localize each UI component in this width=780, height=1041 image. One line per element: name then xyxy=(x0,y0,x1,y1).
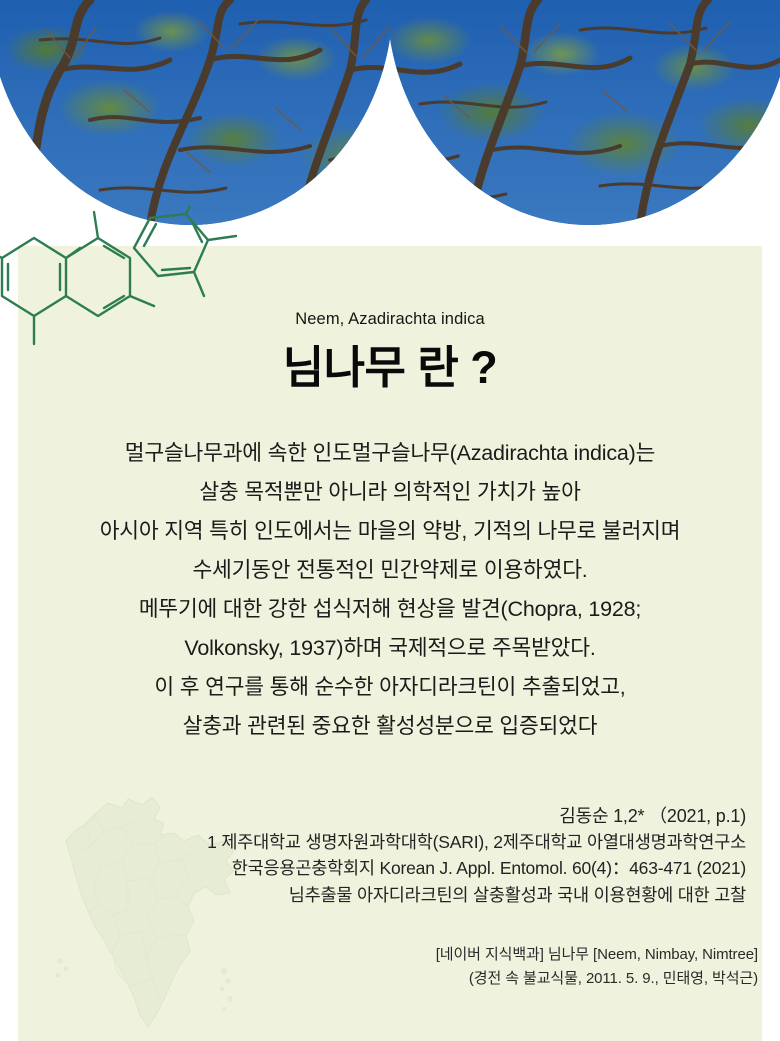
citation-block: 김동순 1,2* （2021, p.1) 1 제주대학교 생명자원과학대학(SA… xyxy=(18,803,746,908)
body-line: 수세기동안 전통적인 민간약제로 이용하였다. xyxy=(18,551,762,590)
latin-name-subtitle: Neem, Azadirachta indica xyxy=(0,310,780,329)
citation-author-line: 김동순 1,2* （2021, p.1) xyxy=(18,803,746,829)
photo-scallop-mask xyxy=(0,0,780,250)
photo-lobe-left xyxy=(0,0,393,225)
body-line: 살충 목적뿐만 아니라 의학적인 가치가 높아 xyxy=(18,473,762,512)
page-title: 님나무 란 ? xyxy=(0,331,780,396)
hero-photo-band xyxy=(0,0,780,250)
body-line: 멀구슬나무과에 속한 인도멀구슬나무(Azadirachta indica)는 xyxy=(18,434,762,473)
body-text-block: 멀구슬나무과에 속한 인도멀구슬나무(Azadirachta indica)는 … xyxy=(18,434,762,746)
body-line: 이 후 연구를 통해 순수한 아자디라크틴이 추출되었고, xyxy=(18,668,762,707)
branches-layer xyxy=(0,0,393,225)
citation-affiliation-line: 1 제주대학교 생명자원과학대학(SARI), 2제주대학교 아열대생명과학연구… xyxy=(18,829,746,855)
body-line: 메뚜기에 대한 강한 섭식저해 현상을 발견(Chopra, 1928; xyxy=(18,590,762,629)
branches-layer-right xyxy=(387,0,780,225)
neem-tree-canopy-photo xyxy=(0,0,393,225)
body-line: Volkonsky, 1937)하며 국제적으로 주목받았다. xyxy=(18,629,762,668)
source-block: [네이버 지식백과] 님나무 [Neem, Nimbay, Nimtree] (… xyxy=(18,943,758,991)
body-line: 살충과 관련된 중요한 활성성분으로 입증되었다 xyxy=(18,707,762,746)
source-line: (경전 속 불교식물, 2011. 5. 9., 민태영, 박석근) xyxy=(18,967,758,991)
source-line: [네이버 지식백과] 님나무 [Neem, Nimbay, Nimtree] xyxy=(18,943,758,967)
body-line: 아시아 지역 특히 인도에서는 마을의 약방, 기적의 나무로 불러지며 xyxy=(18,512,762,551)
citation-journal-line: 한국응용곤충학회지 Korean J. Appl. Entomol. 60(4)… xyxy=(18,855,746,881)
photo-lobe-right xyxy=(387,0,780,225)
citation-article-title-line: 님추출물 아자디라크틴의 살충활성과 국내 이용현황에 대한 고찰 xyxy=(18,881,746,908)
neem-tree-canopy-photo-right xyxy=(387,0,780,225)
